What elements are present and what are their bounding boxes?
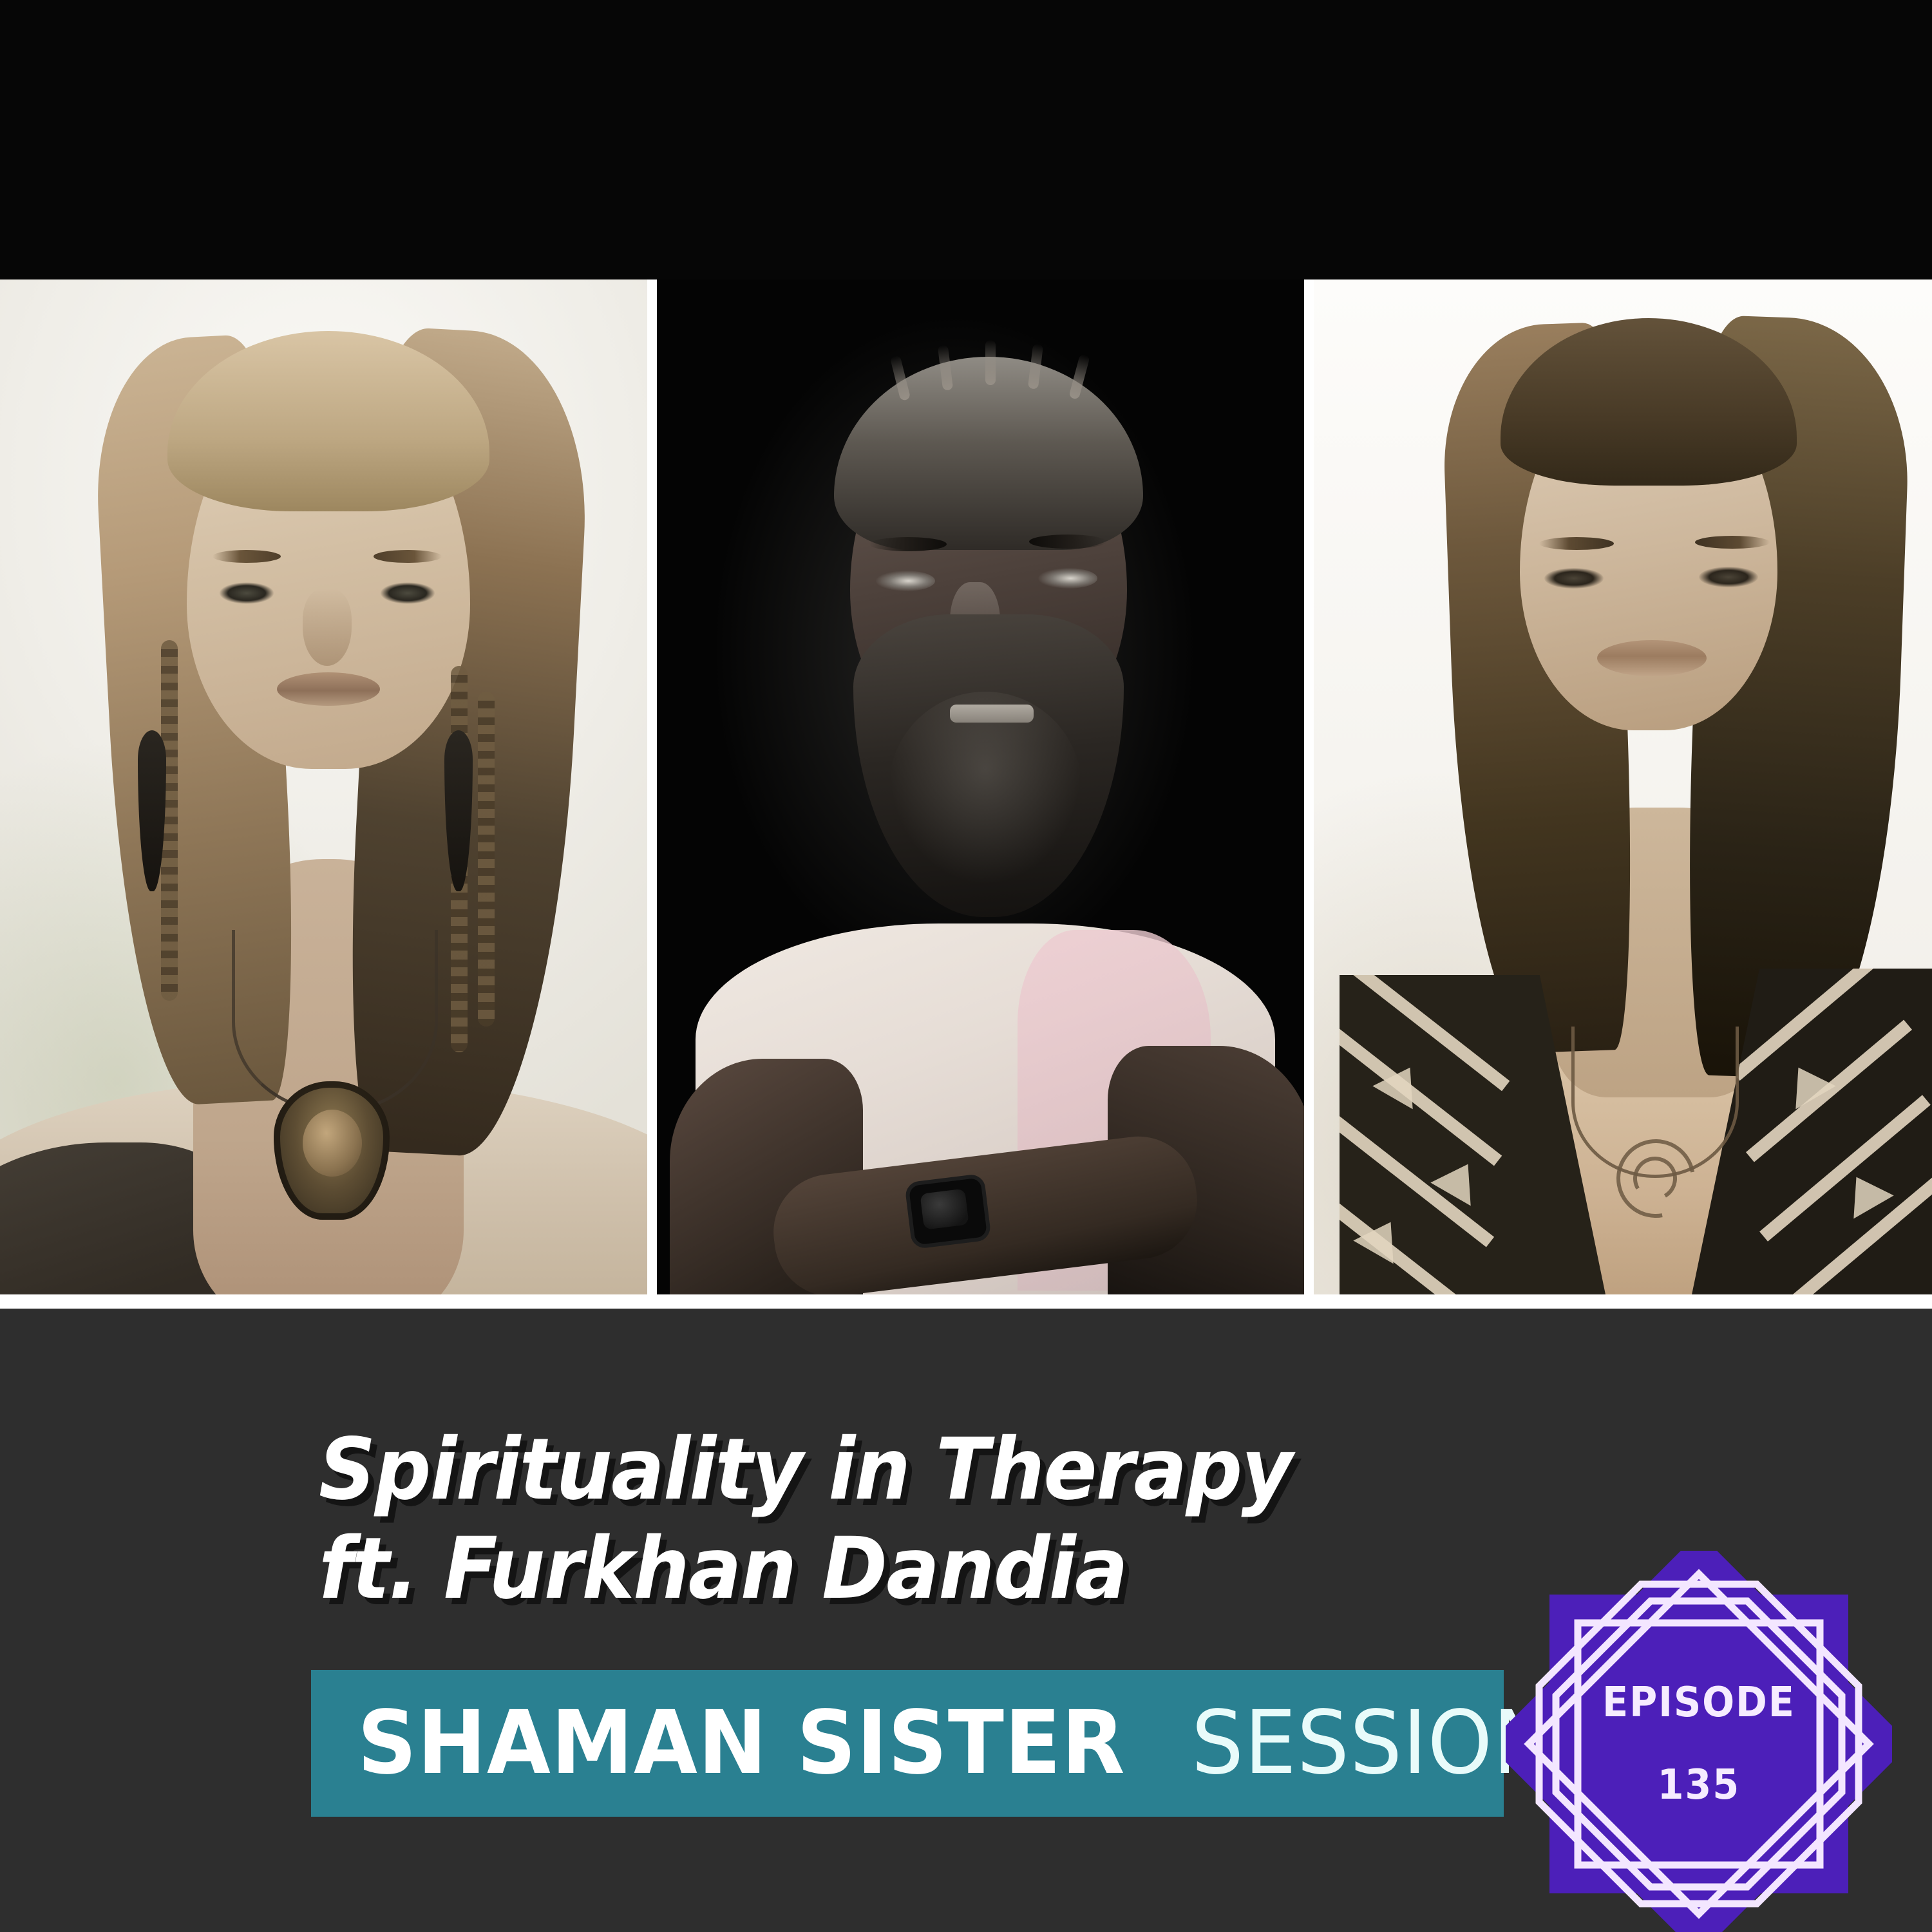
hair-spike (985, 340, 996, 385)
photo-guest-center (657, 279, 1304, 1307)
podcast-cover-art: Spirituality in Therapy ft. Furkhan Dand… (0, 0, 1932, 1932)
eyebrow-right (1695, 536, 1770, 549)
lips-shape (277, 672, 380, 706)
episode-title-line-2: ft. Furkhan Dandia (319, 1519, 1457, 1618)
show-name-bold: SHAMAN SISTER (357, 1700, 1126, 1787)
wristwatch (904, 1173, 992, 1249)
nose-shape (303, 589, 352, 666)
guest-photo-strip (0, 279, 1932, 1307)
eyebrow-right (374, 550, 442, 563)
photo-host-left (0, 279, 647, 1307)
photo-host-right (1314, 279, 1932, 1307)
eyebrow-left (1539, 537, 1614, 550)
photo-divider (1304, 279, 1314, 1307)
octagram-badge-icon (1506, 1551, 1892, 1932)
eye-right (380, 582, 435, 604)
top-black-bar (0, 0, 1932, 279)
eyebrow-right (1029, 535, 1106, 549)
pendant (274, 1081, 390, 1220)
eye-left (1544, 568, 1604, 589)
episode-title-block: Spirituality in Therapy ft. Furkhan Dand… (319, 1420, 1542, 1619)
eyebrow-left (869, 537, 947, 551)
pendant-stone (303, 1110, 362, 1177)
photo-divider (647, 279, 657, 1307)
braid-strand (478, 692, 495, 1027)
pattern-stripe (1350, 975, 1510, 1091)
smile-shape (950, 705, 1034, 723)
smile-shape (1597, 640, 1707, 676)
pattern-triangle (1778, 1056, 1835, 1110)
show-title-text: SHAMAN SISTERSESSIONS (357, 1700, 1634, 1787)
wristwatch-face (920, 1189, 969, 1230)
eye-left (219, 582, 274, 604)
show-title-banner: SHAMAN SISTERSESSIONS (311, 1670, 1504, 1817)
episode-title-line-1: Spirituality in Therapy (319, 1420, 1457, 1519)
photo-strip-underline (0, 1294, 1932, 1309)
eye-right (1699, 567, 1758, 587)
pattern-stripe (1759, 1095, 1931, 1241)
eye-left (876, 571, 935, 591)
eyebrow-left (213, 550, 281, 563)
episode-badge: EPISODE 135 (1506, 1551, 1892, 1932)
eye-right (1038, 568, 1097, 589)
